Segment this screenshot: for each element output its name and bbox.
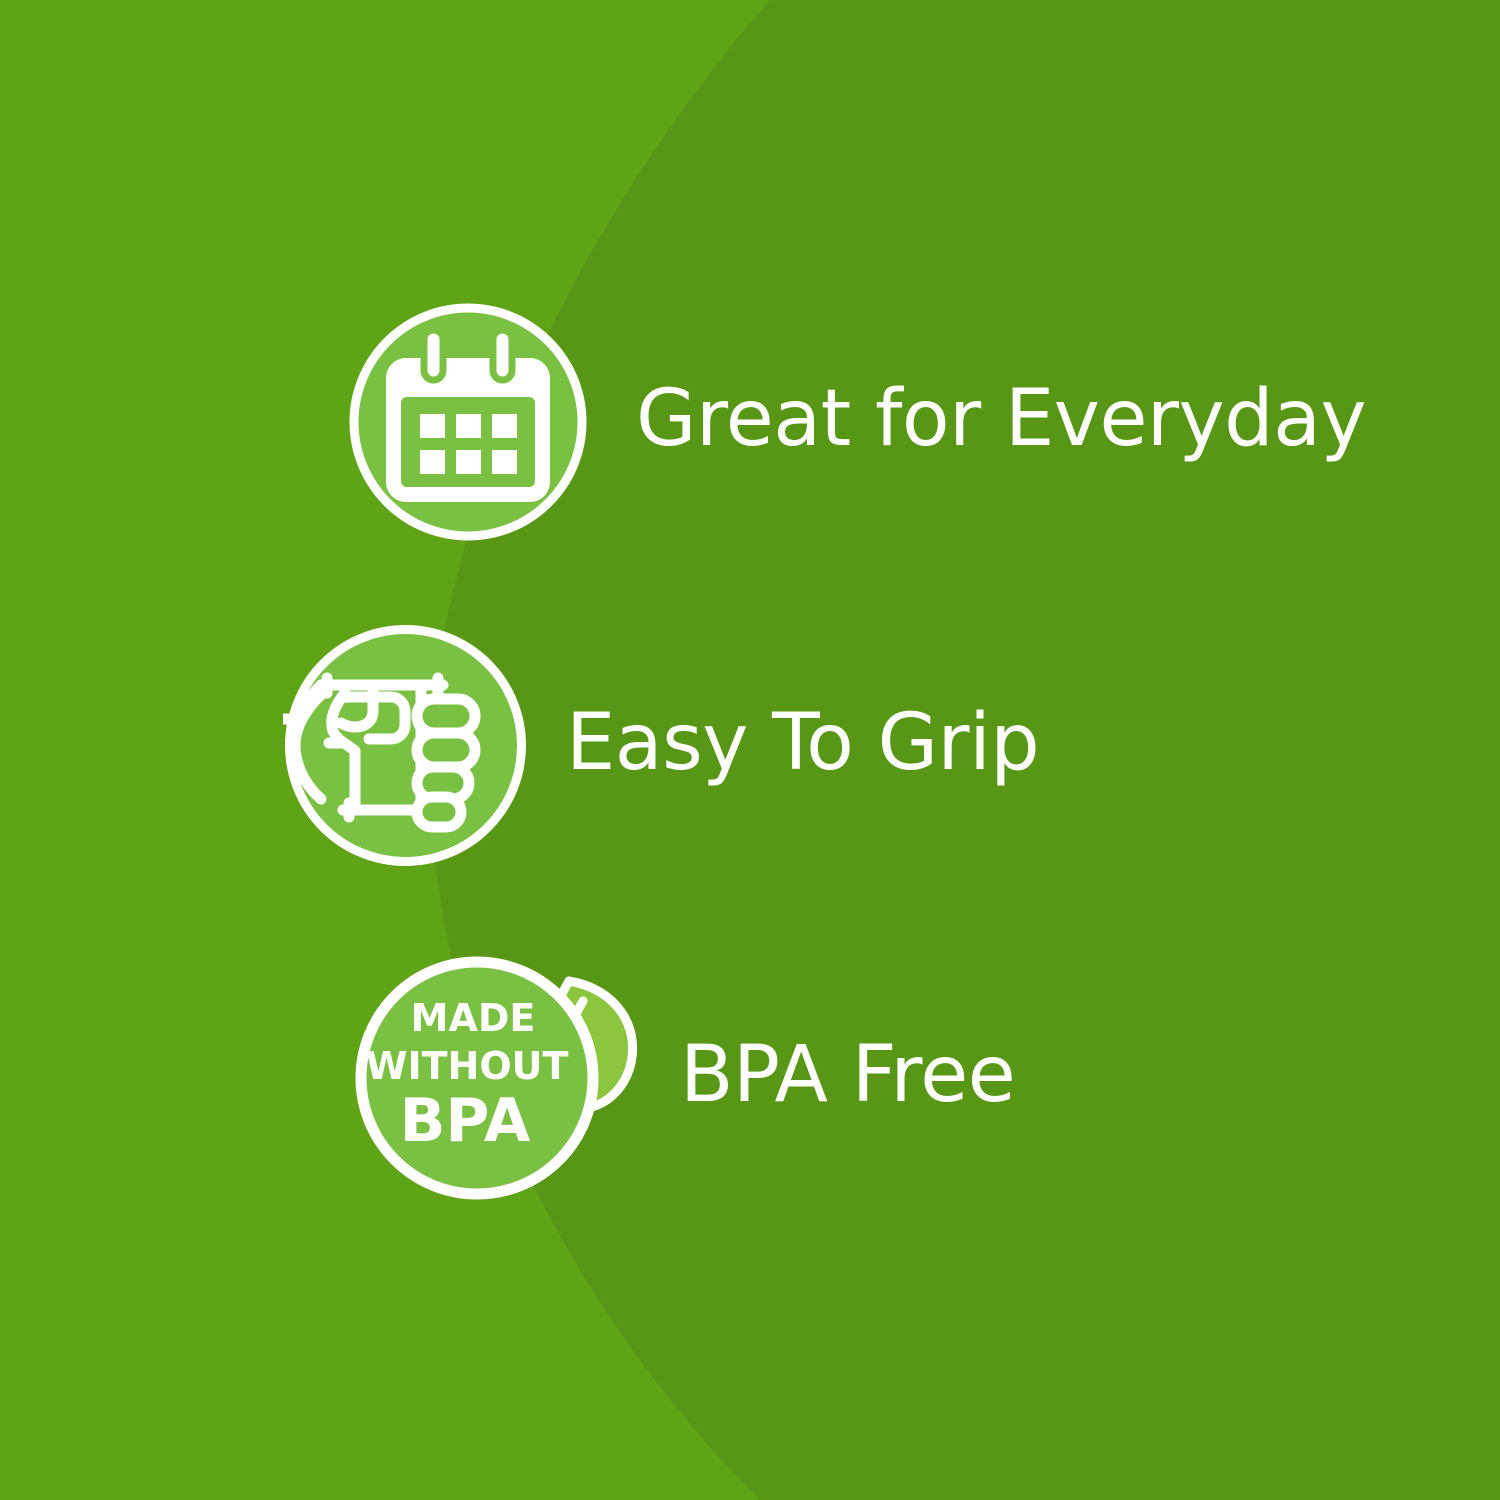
calendar-icon [348,302,588,542]
made-without-bpa-leaf-icon: MADE WITHOUT BPA [355,953,645,1203]
gripping-hand-icon [283,623,528,868]
feature-row-easy-to-grip: Easy To Grip [283,623,1039,868]
gripping-hand-icon-badge [283,623,528,868]
feature-label-easy-to-grip: Easy To Grip [566,704,1039,788]
feature-callout-graphic: Great for Everyday [0,0,1500,1500]
feature-label-bpa-free: BPA Free [680,1036,1015,1120]
feature-row-great-for-everyday: Great for Everyday [348,302,1366,542]
badge-text-line2: WITHOUT [366,1044,569,1088]
feature-row-bpa-free: MADE WITHOUT BPA BPA Free [355,953,1015,1203]
feature-label-great-for-everyday: Great for Everyday [636,380,1366,464]
calendar-icon-badge [348,302,588,542]
badge-text-line1: MADE [411,996,536,1040]
badge-text-line3: BPA [400,1086,531,1156]
made-without-bpa-leaf-icon-badge: MADE WITHOUT BPA [355,953,645,1203]
